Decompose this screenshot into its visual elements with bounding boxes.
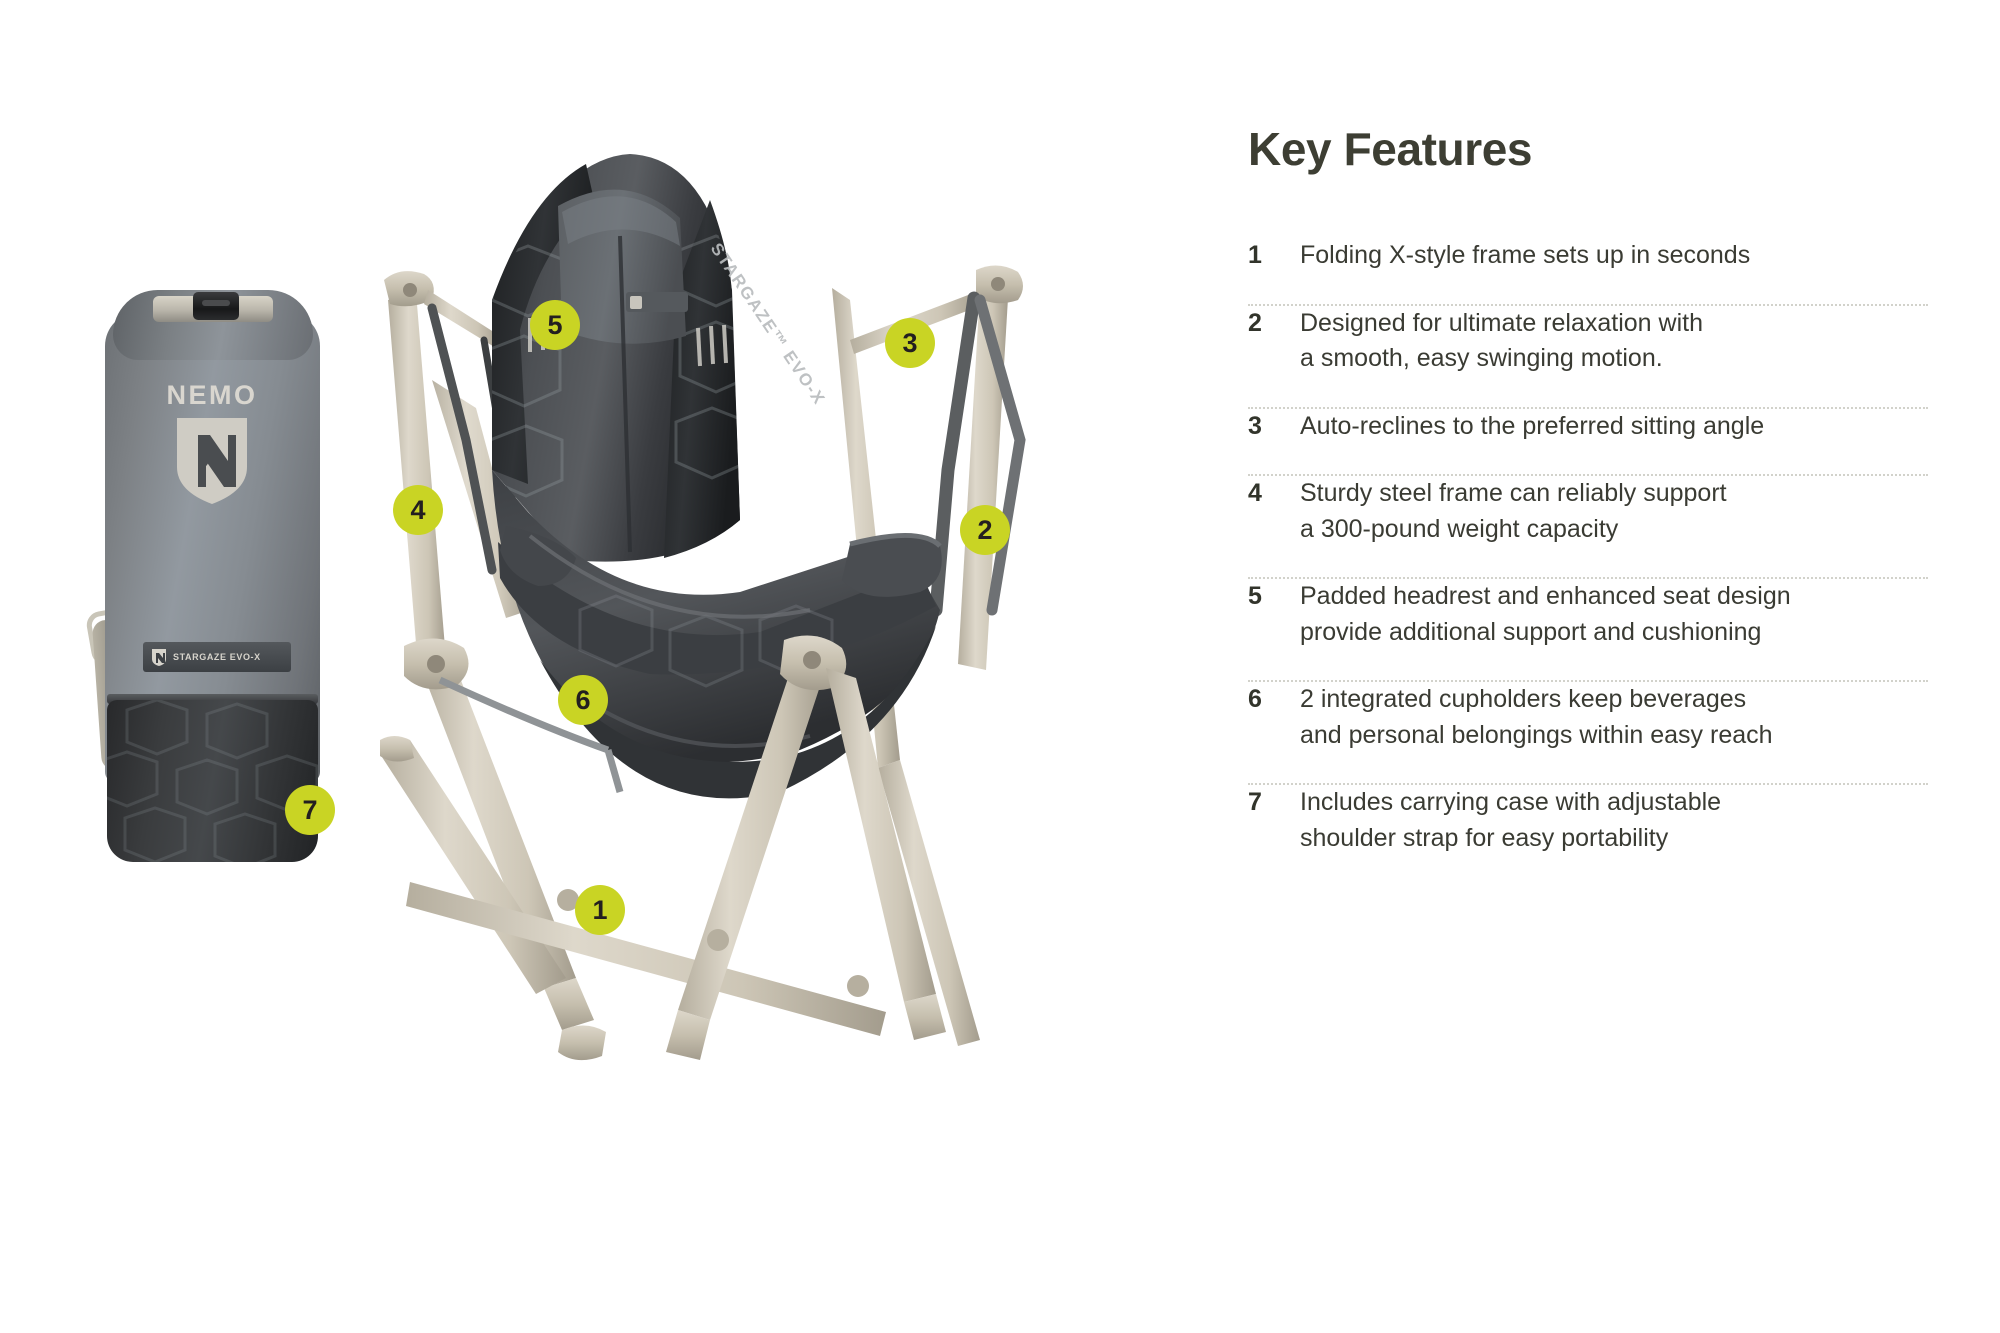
- hexagon-pattern: [107, 700, 318, 862]
- feature-number: 5: [1248, 579, 1300, 615]
- callout-badge-6: 6: [558, 675, 608, 725]
- feature-number: 6: [1248, 682, 1300, 718]
- feature-line-2: provide additional support and cushionin…: [1300, 615, 1791, 651]
- callout-badge-6-label: 6: [575, 687, 590, 714]
- feature-line-1: Folding X-style frame sets up in seconds: [1300, 238, 1750, 274]
- callout-badge-3: 3: [885, 318, 935, 368]
- nemo-wordmark: NEMO: [153, 382, 271, 409]
- feature-line-1: Includes carrying case with adjustable: [1300, 785, 1721, 821]
- callout-badge-7: 7: [285, 785, 335, 835]
- callout-badge-2-label: 2: [977, 517, 992, 544]
- feature-description: Includes carrying case with adjustable s…: [1300, 785, 1721, 856]
- callout-badge-2: 2: [960, 505, 1010, 555]
- feature-item-7: 7 Includes carrying case with adjustable…: [1248, 785, 1928, 886]
- feature-description: Sturdy steel frame can reliably support …: [1300, 476, 1727, 547]
- callout-badge-7-label: 7: [302, 797, 317, 824]
- callout-badge-1: 1: [575, 885, 625, 935]
- feature-line-1: Auto-reclines to the preferred sitting a…: [1300, 409, 1764, 445]
- feature-line-2: shoulder strap for easy portability: [1300, 821, 1721, 857]
- callout-badge-4-label: 4: [410, 497, 425, 524]
- stargaze-chair: STARGAZE™ EVO-X: [380, 140, 1180, 1140]
- callout-badge-5-label: 5: [547, 312, 562, 339]
- feature-description: 2 integrated cupholders keep beverages a…: [1300, 682, 1773, 753]
- feature-item-5: 5 Padded headrest and enhanced seat desi…: [1248, 579, 1928, 680]
- callout-badge-5: 5: [530, 300, 580, 350]
- feature-line-1: Sturdy steel frame can reliably support: [1300, 476, 1727, 512]
- product-image-area: NEMO STARGAZE EVO-X: [0, 0, 1200, 1333]
- case-product-tag: STARGAZE EVO-X: [143, 642, 291, 672]
- buckle-icon: [193, 292, 239, 320]
- nemo-logo: NEMO: [153, 382, 271, 510]
- product-feature-infographic: NEMO STARGAZE EVO-X: [0, 0, 2000, 1333]
- feature-item-6: 6 2 integrated cupholders keep beverages…: [1248, 682, 1928, 783]
- callout-badge-3-label: 3: [902, 330, 917, 357]
- feature-number: 4: [1248, 476, 1300, 512]
- callout-badge-4: 4: [393, 485, 443, 535]
- feature-number: 7: [1248, 785, 1300, 821]
- feature-item-3: 3 Auto-reclines to the preferred sitting…: [1248, 409, 1928, 475]
- callout-badge-1-label: 1: [592, 897, 607, 924]
- feature-line-1: Padded headrest and enhanced seat design: [1300, 579, 1791, 615]
- feature-number: 2: [1248, 306, 1300, 342]
- feature-item-4: 4 Sturdy steel frame can reliably suppor…: [1248, 476, 1928, 577]
- feature-number: 1: [1248, 238, 1300, 274]
- feature-item-2: 2 Designed for ultimate relaxation with …: [1248, 306, 1928, 407]
- feature-item-1: 1 Folding X-style frame sets up in secon…: [1248, 238, 1928, 304]
- nemo-shield-icon: [174, 415, 250, 507]
- feature-description: Padded headrest and enhanced seat design…: [1300, 579, 1791, 650]
- feature-description: Designed for ultimate relaxation with a …: [1300, 306, 1703, 377]
- chair-illustration: STARGAZE™ EVO-X: [380, 140, 1180, 1140]
- feature-line-2: a 300-pound weight capacity: [1300, 512, 1727, 548]
- feature-line-2: a smooth, easy swinging motion.: [1300, 341, 1703, 377]
- page-title: Key Features: [1248, 126, 1928, 172]
- shield-icon: [151, 648, 167, 667]
- feature-number: 3: [1248, 409, 1300, 445]
- case-tag-label: STARGAZE EVO-X: [173, 652, 261, 662]
- key-features-panel: Key Features 1 Folding X-style frame set…: [1248, 126, 1928, 886]
- case-bottom-panel: [107, 700, 318, 862]
- feature-description: Auto-reclines to the preferred sitting a…: [1300, 409, 1764, 445]
- feature-line-1: Designed for ultimate relaxation with: [1300, 306, 1703, 342]
- feature-line-2: and personal belongings within easy reac…: [1300, 718, 1773, 754]
- feature-line-1: 2 integrated cupholders keep beverages: [1300, 682, 1773, 718]
- feature-description: Folding X-style frame sets up in seconds: [1300, 238, 1750, 274]
